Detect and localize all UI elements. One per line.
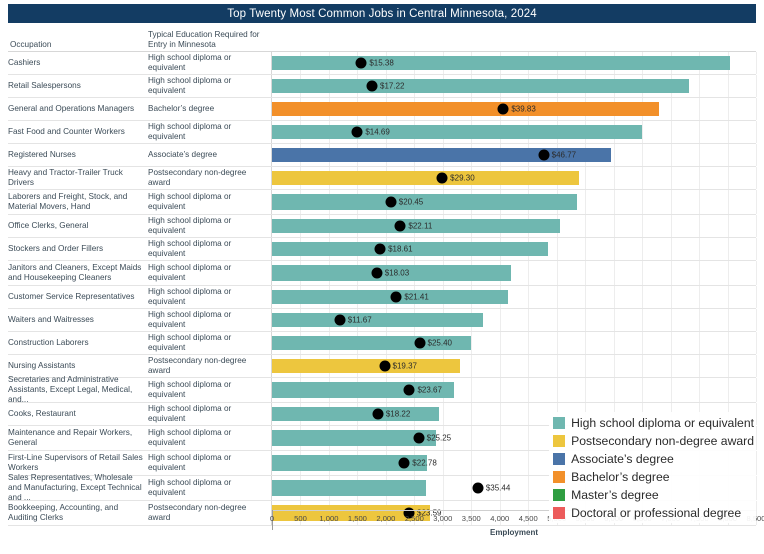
- median-wage-label: $22.11: [408, 222, 432, 231]
- bar-cell: $39.83: [272, 98, 756, 120]
- employment-bar[interactable]: [272, 407, 439, 421]
- education-label: High school diploma or equivalent: [148, 261, 272, 285]
- employment-bar[interactable]: [272, 430, 436, 446]
- median-wage-label: $14.69: [365, 128, 389, 137]
- median-wage-dot[interactable]: [352, 127, 363, 138]
- occupation-label: Sales Representatives, Wholesale and Man…: [8, 476, 148, 500]
- table-row[interactable]: Janitors and Cleaners, Except Maids and …: [8, 261, 756, 286]
- table-row[interactable]: Construction LaborersHigh school diploma…: [8, 332, 756, 355]
- legend-swatch: [553, 507, 565, 519]
- education-label: High school diploma or equivalent: [148, 190, 272, 214]
- median-wage-label: $15.38: [369, 59, 393, 68]
- median-wage-dot[interactable]: [379, 361, 390, 372]
- bar-cell: $23.67: [272, 378, 756, 402]
- employment-bar[interactable]: [272, 313, 483, 327]
- occupation-label: Cooks, Restaurant: [8, 403, 148, 425]
- median-wage-label: $29.30: [450, 174, 474, 183]
- bar-cell: $25.40: [272, 332, 756, 354]
- bar-cell: $20.45: [272, 190, 756, 214]
- education-label: High school diploma or equivalent: [148, 476, 272, 500]
- median-wage-label: $21.41: [404, 293, 428, 302]
- x-axis-title: Employment: [272, 528, 756, 537]
- occupation-label: Customer Service Representatives: [8, 286, 148, 308]
- median-wage-dot[interactable]: [399, 458, 410, 469]
- education-label: Postsecondary non-degree award: [148, 501, 272, 525]
- x-axis-tick-label: 4,500: [519, 514, 538, 523]
- bar-cell: $15.38: [272, 52, 756, 74]
- table-row[interactable]: CashiersHigh school diploma or equivalen…: [8, 52, 756, 75]
- median-wage-dot[interactable]: [375, 244, 386, 255]
- legend-swatch: [553, 489, 565, 501]
- x-axis-tick-label: 0: [270, 514, 274, 523]
- median-wage-label: $25.40: [428, 339, 452, 348]
- chart-title: Top Twenty Most Common Jobs in Central M…: [8, 4, 756, 23]
- education-label: High school diploma or equivalent: [148, 52, 272, 74]
- education-label: High school diploma or equivalent: [148, 451, 272, 475]
- legend-item[interactable]: Postsecondary non-degree award: [553, 432, 754, 449]
- occupation-label: Registered Nurses: [8, 144, 148, 166]
- bar-cell: $21.41: [272, 286, 756, 308]
- bar-cell: $14.69: [272, 121, 756, 143]
- median-wage-label: $20.45: [399, 198, 423, 207]
- education-label: Postsecondary non-degree award: [148, 355, 272, 377]
- employment-bar[interactable]: [272, 56, 730, 70]
- education-label: High school diploma or equivalent: [148, 75, 272, 97]
- median-wage-label: $22.78: [412, 459, 436, 468]
- column-header-band: Occupation Typical Education Required fo…: [8, 26, 756, 52]
- legend-swatch: [553, 435, 565, 447]
- bar-cell: $19.37: [272, 355, 756, 377]
- occupation-label: Fast Food and Counter Workers: [8, 121, 148, 143]
- employment-bar[interactable]: [272, 194, 577, 210]
- bar-cell: $46.77: [272, 144, 756, 166]
- legend-label: Bachelor’s degree: [571, 470, 669, 484]
- median-wage-label: $18.03: [385, 269, 409, 278]
- education-label: High school diploma or equivalent: [148, 286, 272, 308]
- table-row[interactable]: Stockers and Order FillersHigh school di…: [8, 238, 756, 261]
- median-wage-dot[interactable]: [334, 315, 345, 326]
- median-wage-label: $11.67: [348, 316, 372, 325]
- bar-cell: $29.30: [272, 167, 756, 189]
- median-wage-dot[interactable]: [404, 385, 415, 396]
- x-axis-tick-label: 3,500: [462, 514, 481, 523]
- employment-bar[interactable]: [272, 102, 659, 116]
- education-label: High school diploma or equivalent: [148, 309, 272, 331]
- median-wage-dot[interactable]: [498, 104, 509, 115]
- legend-swatch: [553, 453, 565, 465]
- employment-bar[interactable]: [272, 171, 579, 185]
- median-wage-dot[interactable]: [356, 58, 367, 69]
- education-label: Postsecondary non-degree award: [148, 167, 272, 189]
- table-row[interactable]: Laborers and Freight, Stock, and Materia…: [8, 190, 756, 215]
- legend-swatch: [553, 471, 565, 483]
- education-label: High school diploma or equivalent: [148, 238, 272, 260]
- occupation-label: Office Clerks, General: [8, 215, 148, 237]
- education-label: Associate’s degree: [148, 144, 272, 166]
- education-label: High school diploma or equivalent: [148, 403, 272, 425]
- occupation-label: Laborers and Freight, Stock, and Materia…: [8, 190, 148, 214]
- education-label: Bachelor’s degree: [148, 98, 272, 120]
- legend-item[interactable]: High school diploma or equivalent: [553, 414, 754, 431]
- x-axis-tick-label: 3,000: [433, 514, 452, 523]
- legend-label: Master’s degree: [571, 488, 659, 502]
- chart-canvas: Top Twenty Most Common Jobs in Central M…: [0, 0, 764, 554]
- education-label: High school diploma or equivalent: [148, 121, 272, 143]
- occupation-label: Heavy and Tractor-Trailer Truck Drivers: [8, 167, 148, 189]
- legend-item[interactable]: Doctoral or professional degree: [553, 504, 754, 521]
- employment-bar[interactable]: [272, 79, 689, 93]
- x-axis-tick-label: 4,000: [490, 514, 509, 523]
- median-wage-dot[interactable]: [385, 197, 396, 208]
- occupation-label: Nursing Assistants: [8, 355, 148, 377]
- median-wage-dot[interactable]: [538, 150, 549, 161]
- employment-bar[interactable]: [272, 480, 426, 496]
- bar-cell: $22.11: [272, 215, 756, 237]
- median-wage-label: $46.77: [552, 151, 576, 160]
- column-header-education: Typical Education Required for Entry in …: [148, 30, 268, 50]
- occupation-label: First-Line Supervisors of Retail Sales W…: [8, 451, 148, 475]
- x-axis-tick-label: 2,500: [405, 514, 424, 523]
- median-wage-dot[interactable]: [372, 409, 383, 420]
- median-wage-dot[interactable]: [472, 483, 483, 494]
- median-wage-dot[interactable]: [395, 221, 406, 232]
- legend-item[interactable]: Bachelor’s degree: [553, 468, 754, 485]
- table-row[interactable]: Customer Service RepresentativesHigh sch…: [8, 286, 756, 309]
- median-wage-label: $35.44: [486, 484, 510, 493]
- occupation-label: Janitors and Cleaners, Except Maids and …: [8, 261, 148, 285]
- median-wage-dot[interactable]: [367, 81, 378, 92]
- legend-label: High school diploma or equivalent: [571, 416, 754, 430]
- table-row[interactable]: Secretaries and Administrative Assistant…: [8, 378, 756, 403]
- occupation-label: Construction Laborers: [8, 332, 148, 354]
- occupation-label: General and Operations Managers: [8, 98, 148, 120]
- median-wage-label: $17.22: [380, 82, 404, 91]
- occupation-label: Waiters and Waitresses: [8, 309, 148, 331]
- median-wage-dot[interactable]: [414, 338, 425, 349]
- median-wage-label: $23.67: [417, 386, 441, 395]
- median-wage-dot[interactable]: [391, 292, 402, 303]
- occupation-label: Bookkeeping, Accounting, and Auditing Cl…: [8, 501, 148, 525]
- employment-bar[interactable]: [272, 125, 642, 139]
- table-row[interactable]: Heavy and Tractor-Trailer Truck DriversP…: [8, 167, 756, 190]
- legend-item[interactable]: Associate’s degree: [553, 450, 754, 467]
- table-row[interactable]: Registered NursesAssociate’s degree$46.7…: [8, 144, 756, 167]
- median-wage-label: $18.61: [388, 245, 412, 254]
- occupation-label: Cashiers: [8, 52, 148, 74]
- median-wage-dot[interactable]: [371, 268, 382, 279]
- median-wage-label: $19.37: [393, 362, 417, 371]
- employment-bar[interactable]: [272, 359, 460, 373]
- legend-item[interactable]: Master’s degree: [553, 486, 754, 503]
- legend-label: Associate’s degree: [571, 452, 674, 466]
- table-row[interactable]: Retail SalespersonsHigh school diploma o…: [8, 75, 756, 98]
- table-row[interactable]: General and Operations ManagersBachelor’…: [8, 98, 756, 121]
- bar-cell: $18.61: [272, 238, 756, 260]
- x-axis-tick-label: 2,000: [376, 514, 395, 523]
- column-header-occupation: Occupation: [10, 40, 51, 49]
- median-wage-label: $39.83: [511, 105, 535, 114]
- occupation-label: Maintenance and Repair Workers, General: [8, 426, 148, 450]
- legend-label: Doctoral or professional degree: [571, 506, 741, 520]
- median-wage-dot[interactable]: [413, 433, 424, 444]
- table-row[interactable]: Office Clerks, GeneralHigh school diplom…: [8, 215, 756, 238]
- bar-cell: $11.67: [272, 309, 756, 331]
- table-row[interactable]: Waiters and WaitressesHigh school diplom…: [8, 309, 756, 332]
- occupation-label: Retail Salespersons: [8, 75, 148, 97]
- legend-label: Postsecondary non-degree award: [571, 434, 754, 448]
- occupation-label: Stockers and Order Fillers: [8, 238, 148, 260]
- bar-cell: $18.03: [272, 261, 756, 285]
- chart-legend: High school diploma or equivalentPostsec…: [549, 412, 756, 523]
- median-wage-label: $18.22: [386, 410, 410, 419]
- education-label: High school diploma or equivalent: [148, 378, 272, 402]
- occupation-label: Secretaries and Administrative Assistant…: [8, 378, 148, 402]
- x-axis-tick-label: 1,000: [319, 514, 338, 523]
- education-label: High school diploma or equivalent: [148, 332, 272, 354]
- x-axis-tick-label: 1,500: [348, 514, 367, 523]
- x-axis-tick-label: 500: [294, 514, 307, 523]
- education-label: High school diploma or equivalent: [148, 215, 272, 237]
- legend-swatch: [553, 417, 565, 429]
- median-wage-dot[interactable]: [437, 173, 448, 184]
- median-wage-label: $25.25: [427, 434, 451, 443]
- bar-cell: $17.22: [272, 75, 756, 97]
- education-label: High school diploma or equivalent: [148, 426, 272, 450]
- table-row[interactable]: Fast Food and Counter WorkersHigh school…: [8, 121, 756, 144]
